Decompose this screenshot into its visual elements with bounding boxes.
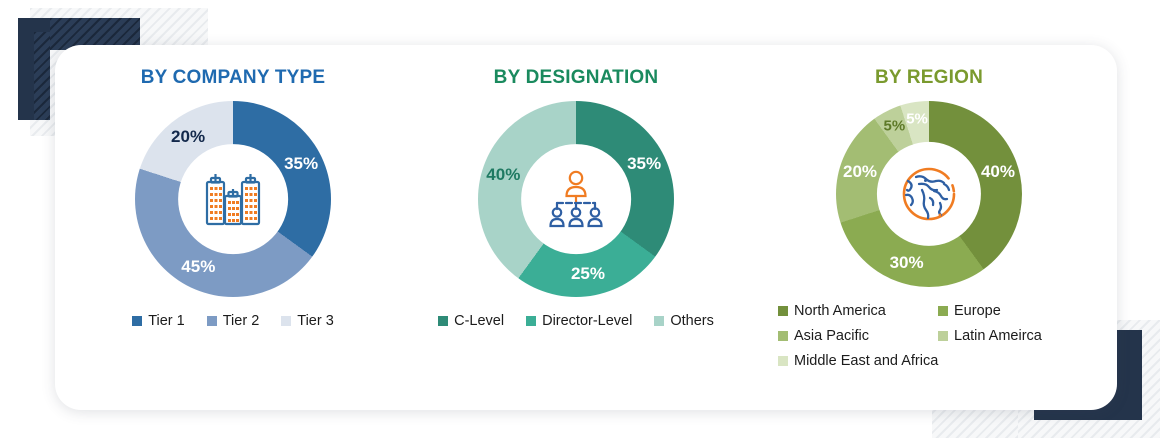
legend-label: Others	[670, 313, 714, 329]
legend-label: Tier 1	[148, 313, 185, 329]
legend-item-director-level[interactable]: Director-Level	[526, 313, 632, 329]
infographic-root: BY COMPANY TYPE	[0, 0, 1170, 444]
donut-label-tier-2: 45%	[181, 257, 215, 277]
legend-item-latin-america[interactable]: Latin Ameirca	[938, 328, 1098, 344]
legend-item-north-america[interactable]: North America	[778, 303, 938, 319]
legend-swatch-icon	[281, 316, 291, 326]
legend-item-tier-1[interactable]: Tier 1	[132, 313, 185, 329]
donut-label-c-level: 35%	[627, 154, 661, 174]
legend-label: Asia Pacific	[794, 328, 869, 344]
legend-swatch-icon	[207, 316, 217, 326]
donut-label-europe: 30%	[890, 253, 924, 273]
legend-label: North America	[794, 303, 886, 319]
legend-swatch-icon	[438, 316, 448, 326]
legend-label: Tier 3	[297, 313, 334, 329]
legend-swatch-icon	[938, 331, 948, 341]
panel-designation: BY DESIGNATION	[411, 45, 741, 410]
legend-swatch-icon	[526, 316, 536, 326]
legend-swatch-icon	[778, 331, 788, 341]
legend-label: Tier 2	[223, 313, 260, 329]
donut-label-tier-3: 20%	[171, 127, 205, 147]
org-chart-people-icon	[544, 167, 608, 231]
panel-company-type: BY COMPANY TYPE	[55, 45, 411, 410]
legend-label: C-Level	[454, 313, 504, 329]
legend-swatch-icon	[654, 316, 664, 326]
donut-chart-company-type: 35% 45% 20%	[135, 101, 331, 297]
globe-icon	[897, 162, 961, 226]
legend-item-tier-3[interactable]: Tier 3	[281, 313, 334, 329]
legend-item-others[interactable]: Others	[654, 313, 714, 329]
legend-swatch-icon	[132, 316, 142, 326]
legend-item-tier-2[interactable]: Tier 2	[207, 313, 260, 329]
donut-label-asia-pacific: 20%	[843, 162, 877, 182]
legend-swatch-icon	[778, 356, 788, 366]
legend-swatch-icon	[938, 306, 948, 316]
donut-label-director-level: 25%	[571, 264, 605, 284]
legend-label: Director-Level	[542, 313, 632, 329]
donut-label-north-america: 40%	[981, 162, 1015, 182]
legend-company-type: Tier 1 Tier 2 Tier 3	[121, 313, 345, 329]
legend-label: Europe	[954, 303, 1001, 319]
legend-region: North America Europe Asia Pacific Latin …	[778, 303, 1098, 378]
panel-title-designation: BY DESIGNATION	[494, 67, 659, 89]
donut-label-latin-america: 5%	[884, 118, 906, 135]
panel-region: BY REGION	[741, 45, 1117, 410]
donut-chart-region: 40% 30% 20% 5% 5%	[836, 101, 1022, 287]
office-buildings-icon	[201, 167, 265, 231]
panel-title-company-type: BY COMPANY TYPE	[141, 67, 326, 89]
legend-label: Middle East and Africa	[794, 353, 938, 369]
panel-title-region: BY REGION	[875, 67, 983, 89]
donut-chart-designation: 35% 25% 40%	[478, 101, 674, 297]
legend-label: Latin Ameirca	[954, 328, 1042, 344]
legend-item-asia-pacific[interactable]: Asia Pacific	[778, 328, 938, 344]
legend-item-c-level[interactable]: C-Level	[438, 313, 504, 329]
donut-label-others: 40%	[486, 165, 520, 185]
legend-item-europe[interactable]: Europe	[938, 303, 1098, 319]
legend-designation: C-Level Director-Level Others	[427, 313, 725, 329]
donut-label-tier-1: 35%	[284, 154, 318, 174]
legend-swatch-icon	[778, 306, 788, 316]
donut-label-middle-east-africa: 5%	[906, 110, 928, 127]
charts-card: BY COMPANY TYPE	[55, 45, 1117, 410]
legend-item-middle-east-and-africa[interactable]: Middle East and Africa	[778, 353, 1098, 369]
